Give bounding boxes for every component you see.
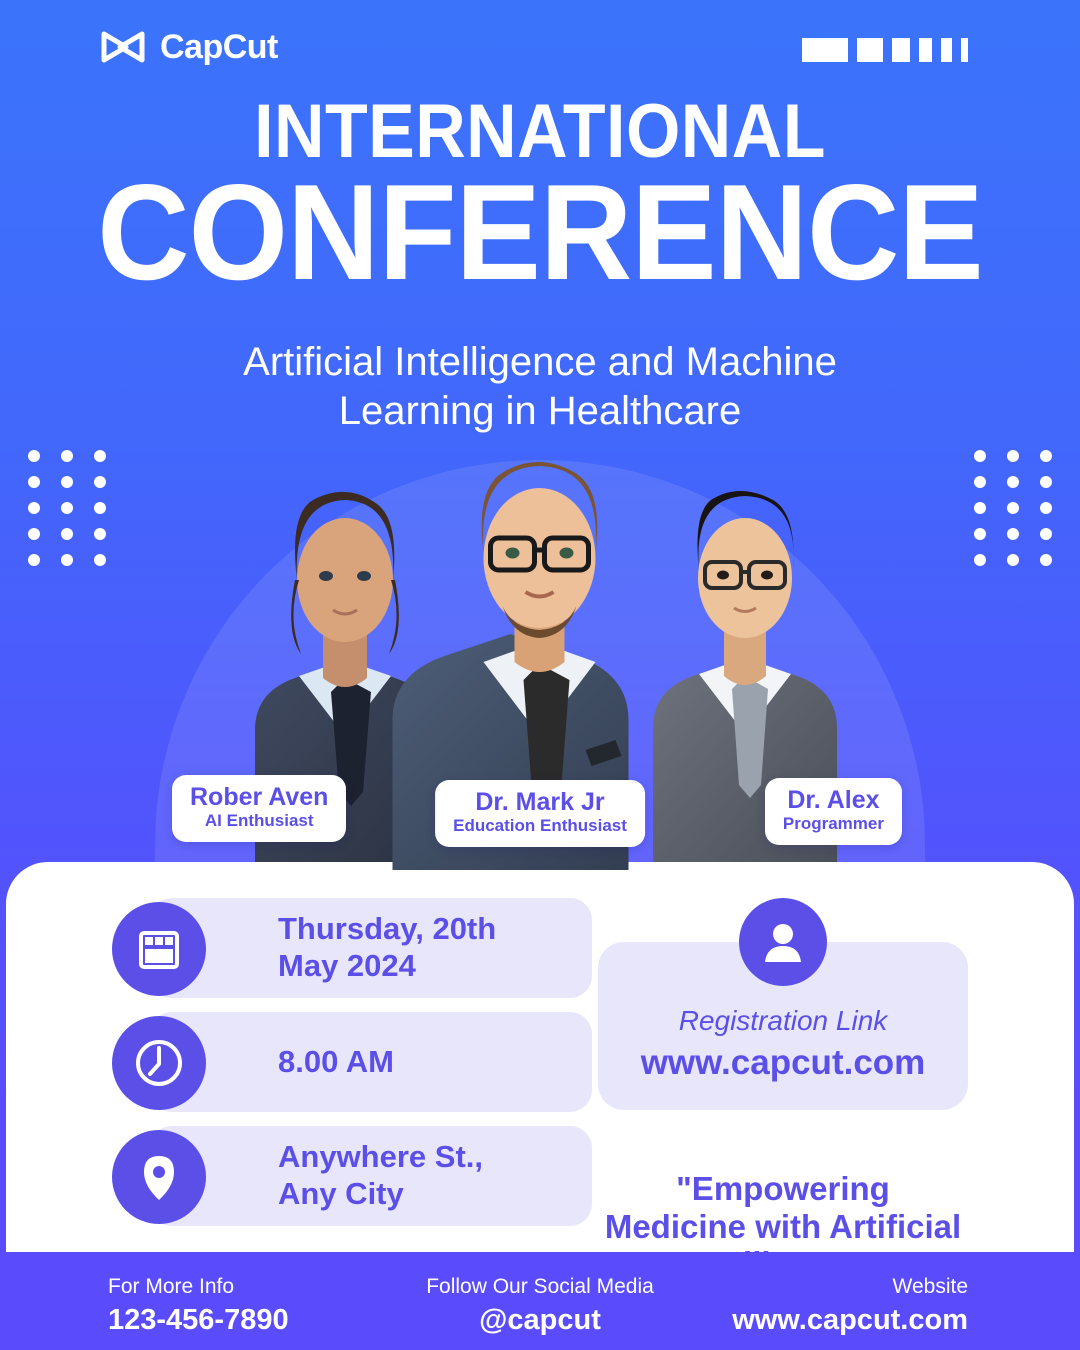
footer-value-3[interactable]: www.capcut.com bbox=[732, 1302, 968, 1338]
location-line-2: Any City bbox=[278, 1176, 483, 1213]
footer-value-2[interactable]: @capcut bbox=[426, 1302, 654, 1338]
speaker-name-3: Dr. Alex bbox=[783, 787, 884, 813]
registration-label: Registration Link bbox=[598, 1004, 968, 1038]
footer-website: Website www.capcut.com bbox=[732, 1274, 968, 1339]
detail-row-date: Thursday, 20th May 2024 bbox=[112, 898, 592, 998]
speaker-badges: Rober Aven AI Enthusiast Dr. Mark Jr Edu… bbox=[0, 775, 1080, 835]
person-avatar-icon bbox=[739, 898, 827, 986]
bar-3 bbox=[892, 38, 910, 62]
date-text: Thursday, 20th May 2024 bbox=[278, 911, 496, 984]
footer-value-1[interactable]: 123-456-7890 bbox=[108, 1302, 289, 1338]
conference-poster: CapCut INTERNATIONAL CONFERENCE Artifici… bbox=[0, 0, 1080, 1350]
footer-label-3: Website bbox=[732, 1274, 968, 1300]
date-line-1: Thursday, 20th bbox=[278, 911, 496, 948]
subtitle-line-1: Artificial Intelligence and Machine bbox=[0, 338, 1080, 387]
brand-name: CapCut bbox=[160, 28, 278, 67]
speaker-badge-3[interactable]: Dr. Alex Programmer bbox=[765, 778, 902, 845]
bar-4 bbox=[919, 38, 932, 62]
detail-row-time: 8.00 AM bbox=[112, 1012, 592, 1112]
event-details-list: Thursday, 20th May 2024 8.00 bbox=[112, 898, 592, 1240]
speaker-role-3: Programmer bbox=[783, 815, 884, 834]
capcut-brand: CapCut bbox=[100, 28, 278, 67]
footer-social: Follow Our Social Media @capcut bbox=[426, 1274, 654, 1339]
time-pill: 8.00 AM bbox=[150, 1012, 592, 1112]
title-line-2: CONFERENCE bbox=[32, 170, 1047, 295]
date-pill: Thursday, 20th May 2024 bbox=[150, 898, 592, 998]
bar-6 bbox=[961, 38, 968, 62]
poster-footer: For More Info 123-456-7890 Follow Our So… bbox=[0, 1252, 1080, 1350]
speaker-role-2: Education Enthusiast bbox=[453, 817, 627, 836]
location-line-1: Anywhere St., bbox=[278, 1139, 483, 1176]
info-card: Thursday, 20th May 2024 8.00 bbox=[6, 862, 1074, 1252]
decorative-bars bbox=[802, 38, 968, 62]
clock-icon bbox=[112, 1016, 206, 1110]
bar-2 bbox=[857, 38, 883, 62]
bar-1 bbox=[802, 38, 848, 62]
detail-row-location: Anywhere St., Any City bbox=[112, 1126, 592, 1226]
speaker-role-1: AI Enthusiast bbox=[190, 812, 328, 831]
quote-line-1: "Empowering bbox=[598, 1170, 968, 1208]
time-text: 8.00 AM bbox=[278, 1044, 394, 1081]
calendar-icon bbox=[112, 902, 206, 996]
footer-label-1: For More Info bbox=[108, 1274, 289, 1300]
speaker-name-2: Dr. Mark Jr bbox=[453, 789, 627, 815]
quote-line-2: Medicine with Artificial bbox=[598, 1208, 968, 1246]
speaker-badge-1[interactable]: Rober Aven AI Enthusiast bbox=[172, 775, 346, 842]
location-pill: Anywhere St., Any City bbox=[150, 1126, 592, 1226]
date-line-2: May 2024 bbox=[278, 948, 496, 985]
location-text: Anywhere St., Any City bbox=[278, 1139, 483, 1212]
capcut-logo-icon bbox=[100, 31, 146, 65]
footer-contact: For More Info 123-456-7890 bbox=[108, 1274, 289, 1339]
speaker-name-1: Rober Aven bbox=[190, 784, 328, 810]
speaker-badge-2[interactable]: Dr. Mark Jr Education Enthusiast bbox=[435, 780, 645, 847]
footer-label-2: Follow Our Social Media bbox=[426, 1274, 654, 1300]
registration-url[interactable]: www.capcut.com bbox=[598, 1042, 968, 1084]
location-pin-icon bbox=[112, 1130, 206, 1224]
hero-title-block: INTERNATIONAL CONFERENCE bbox=[0, 96, 1080, 295]
bar-5 bbox=[941, 38, 952, 62]
